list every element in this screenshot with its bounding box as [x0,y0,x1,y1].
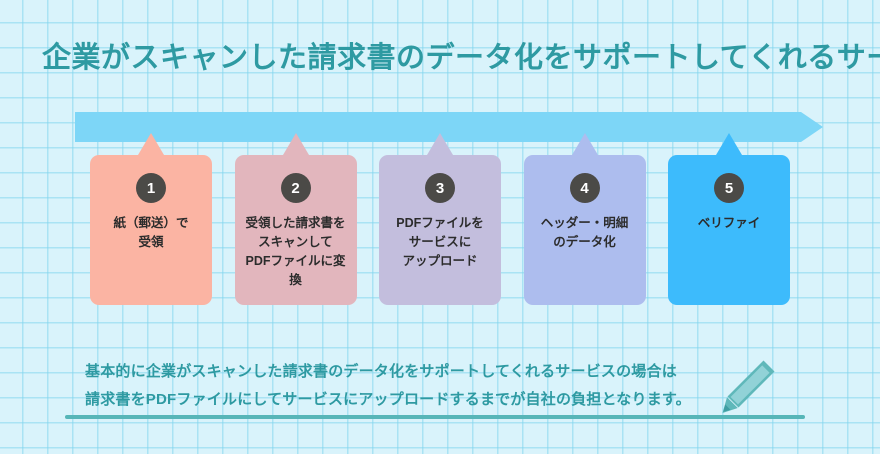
slide-canvas: 企業がスキャンした請求書のデータ化をサポートしてくれるサービス 1 紙（郵送）で… [0,0,880,454]
step-label: 紙（郵送）で 受領 [108,214,193,252]
step-notch-icon [283,133,309,155]
step-number-badge: 4 [570,173,600,203]
step-label: ベリファイ [693,214,766,233]
process-step-1[interactable]: 1 紙（郵送）で 受領 [90,155,212,305]
process-step-2[interactable]: 2 受領した請求書を スキャンして PDFファイルに変換 [235,155,357,305]
step-notch-icon [572,133,598,155]
page-title: 企業がスキャンした請求書のデータ化をサポートしてくれるサービス [42,34,880,76]
process-step-5[interactable]: 5 ベリファイ [668,155,790,305]
step-number-badge: 2 [281,173,311,203]
step-number-badge: 5 [714,173,744,203]
step-label: ヘッダー・明細 のデータ化 [536,214,634,252]
process-step-4[interactable]: 4 ヘッダー・明細 のデータ化 [524,155,646,305]
process-step-list: 1 紙（郵送）で 受領 2 受領した請求書を スキャンして PDFファイルに変換… [90,155,790,310]
step-label: 受領した請求書を スキャンして PDFファイルに変換 [235,214,357,290]
step-notch-icon [138,133,164,155]
step-label: PDFファイルを サービスに アップロード [391,214,489,271]
summary-note-underline [65,415,805,419]
step-notch-icon [427,133,453,155]
pencil-icon [716,358,778,420]
step-number-badge: 3 [425,173,455,203]
process-step-3[interactable]: 3 PDFファイルを サービスに アップロード [379,155,501,305]
step-number-badge: 1 [136,173,166,203]
step-notch-icon [716,133,742,155]
summary-note: 基本的に企業がスキャンした請求書のデータ化をサポートしてくれるサービスの場合は … [85,358,725,414]
